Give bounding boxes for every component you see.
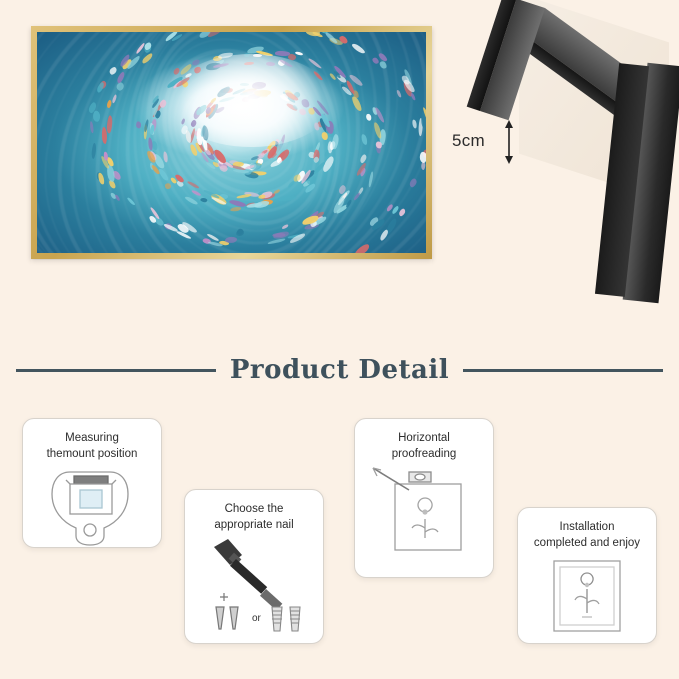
product-detail-heading: Product Detail: [0, 348, 679, 392]
step-card-art: [355, 466, 493, 577]
or-label: or: [252, 613, 262, 624]
artwork-canvas: [37, 32, 426, 253]
step-card-art: [23, 466, 161, 548]
step-card-title: Measuring themount position: [39, 419, 146, 466]
wall-bracket-measure-icon: [36, 466, 148, 548]
step-card-measuring: Measuring themount position: [22, 418, 162, 548]
product-listing-image: 5cm Product Detail Measuring themount po…: [0, 0, 679, 679]
hammer-and-nails-icon: or: [190, 537, 318, 641]
step-card-title: Horizontal proofreading: [384, 419, 465, 466]
step-card-installation-complete: Installation completed and enjoy: [517, 507, 657, 644]
step-card-choose-nail: Choose the appropriate nail or: [184, 489, 324, 644]
page-title: Product Detail: [230, 355, 449, 385]
step-card-title: Choose the appropriate nail: [206, 490, 301, 537]
black-frame-corner: [459, 8, 679, 298]
step-card-title: Installation completed and enjoy: [526, 508, 648, 555]
heading-rule-right: [463, 369, 663, 372]
heading-rule-left: [16, 369, 216, 372]
artwork-frame: [31, 26, 432, 259]
dimension-arrow-icon: [502, 120, 516, 164]
step-card-art: [518, 555, 656, 643]
hung-picture-icon: [532, 555, 642, 641]
level-frame-icon: [365, 466, 483, 558]
step-card-horizontal-proofreading: Horizontal proofreading: [354, 418, 494, 578]
step-card-art: or: [185, 537, 323, 643]
dimension-label: 5cm: [452, 131, 485, 151]
